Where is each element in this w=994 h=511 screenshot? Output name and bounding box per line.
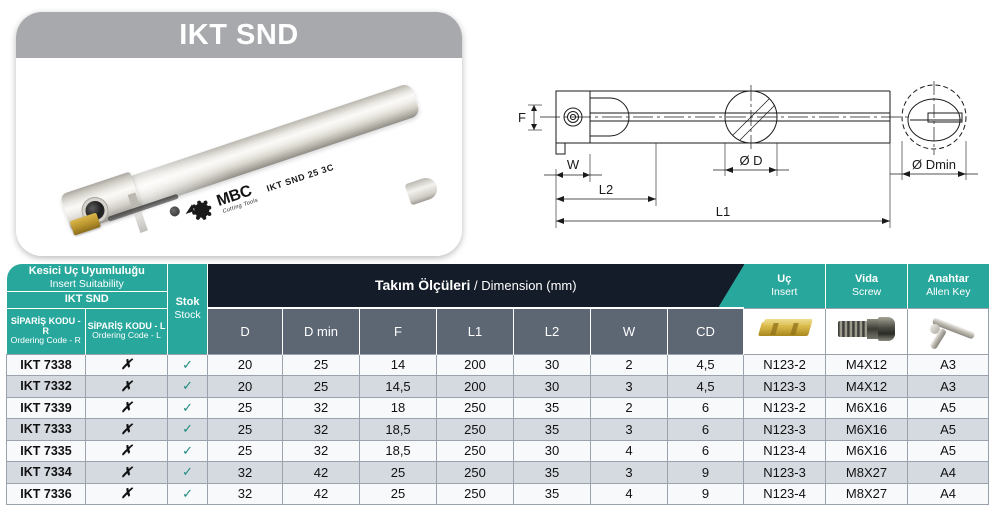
table-row[interactable]: IKT 7334✗✓3242252503539N123-3M8X27A4 xyxy=(7,462,989,484)
cell-ordering-code-r: IKT 7332 xyxy=(7,376,86,398)
cell-insert: N123-3 xyxy=(744,462,826,484)
cell-insert: N123-4 xyxy=(744,440,826,462)
cell-d: 25 xyxy=(208,397,283,419)
header-col-dmin: D min xyxy=(283,308,360,354)
dim-label-d: Ø D xyxy=(739,153,762,168)
allen-key-icon-cell xyxy=(908,308,989,354)
header-col-f: F xyxy=(360,308,437,354)
cell-d: 20 xyxy=(208,354,283,376)
cell-d: 32 xyxy=(208,462,283,484)
cell-w: 2 xyxy=(591,397,668,419)
header-col-d: D xyxy=(208,308,283,354)
cell-dmin: 32 xyxy=(283,397,360,419)
page-title: IKT SND xyxy=(179,19,299,52)
cell-allen-key: A5 xyxy=(908,419,989,441)
technical-drawing: F W L2 Ø D L1 Ø Dmin xyxy=(470,10,994,258)
cell-allen-key: A4 xyxy=(908,462,989,484)
cell-insert: N123-2 xyxy=(744,397,826,419)
cell-d: 25 xyxy=(208,419,283,441)
brand-tagline: Cutting Tools xyxy=(222,198,259,215)
cell-ordering-code-l: ✗ xyxy=(86,376,168,398)
dim-label-dmin: Ø Dmin xyxy=(912,157,956,172)
cell-l2: 30 xyxy=(514,354,591,376)
cell-f: 18 xyxy=(360,397,437,419)
cell-screw: M8X27 xyxy=(826,483,908,505)
cell-ordering-code-r: IKT 7339 xyxy=(7,397,86,419)
cell-f: 18,5 xyxy=(360,440,437,462)
table-row[interactable]: IKT 7333✗✓253218,52503536N123-3M6X16A5 xyxy=(7,419,989,441)
specification-table: Kesici Uç Uyumluluğu Insert Suitability … xyxy=(6,264,989,505)
product-title-bar: IKT SND xyxy=(16,12,462,58)
cell-l2: 35 xyxy=(514,462,591,484)
table-row[interactable]: IKT 7335✗✓253218,52503046N123-4M6X16A5 xyxy=(7,440,989,462)
header-dimension: Takım Ölçüleri / Dimension (mm) xyxy=(208,264,744,308)
cell-l2: 35 xyxy=(514,483,591,505)
cell-f: 25 xyxy=(360,462,437,484)
cell-stock: ✓ xyxy=(168,440,208,462)
cell-ordering-code-l: ✗ xyxy=(86,397,168,419)
tool-coolant-hole xyxy=(168,205,181,218)
cell-screw: M4X12 xyxy=(826,376,908,398)
cell-cd: 9 xyxy=(668,483,744,505)
cell-f: 25 xyxy=(360,483,437,505)
header-stock: Stok Stock xyxy=(168,264,208,354)
cell-stock: ✓ xyxy=(168,419,208,441)
cell-insert: N123-2 xyxy=(744,354,826,376)
cell-stock: ✓ xyxy=(168,397,208,419)
header-screw: Vida Screw xyxy=(826,264,908,308)
cell-dmin: 32 xyxy=(283,440,360,462)
cell-l1: 250 xyxy=(437,483,514,505)
cell-allen-key: A3 xyxy=(908,376,989,398)
cell-w: 3 xyxy=(591,462,668,484)
cell-screw: M6X16 xyxy=(826,419,908,441)
cell-l1: 250 xyxy=(437,419,514,441)
header-col-w: W xyxy=(591,308,668,354)
cell-insert: N123-4 xyxy=(744,483,826,505)
cell-ordering-code-r: IKT 7333 xyxy=(7,419,86,441)
boring-bar-illustration: MBC Cutting Tools IKT SND 25 3C xyxy=(16,58,462,256)
cell-l2: 30 xyxy=(514,376,591,398)
cell-allen-key: A5 xyxy=(908,397,989,419)
cell-l2: 35 xyxy=(514,419,591,441)
catalog-page: IKT SND MBC xyxy=(0,0,994,511)
header-ordering-code-l: SİPARİŞ KODU - L Ordering Code - L xyxy=(86,308,168,354)
cell-screw: M6X16 xyxy=(826,440,908,462)
cell-stock: ✓ xyxy=(168,376,208,398)
table-row[interactable]: IKT 7339✗✓2532182503526N123-2M6X16A5 xyxy=(7,397,989,419)
cell-screw: M4X12 xyxy=(826,354,908,376)
specification-table-wrapper: Kesici Uç Uyumluluğu Insert Suitability … xyxy=(6,264,988,506)
header-col-l1: L1 xyxy=(437,308,514,354)
cell-w: 2 xyxy=(591,354,668,376)
cell-l1: 250 xyxy=(437,397,514,419)
cell-ordering-code-r: IKT 7334 xyxy=(7,462,86,484)
cell-f: 18,5 xyxy=(360,419,437,441)
cell-l1: 250 xyxy=(437,440,514,462)
cell-dmin: 25 xyxy=(283,354,360,376)
cell-f: 14 xyxy=(360,354,437,376)
table-row[interactable]: IKT 7338✗✓2025142003024,5N123-2M4X12A3 xyxy=(7,354,989,376)
brand-name: MBC xyxy=(215,182,257,210)
cell-l1: 200 xyxy=(437,354,514,376)
technical-drawing-svg: F W L2 Ø D L1 Ø Dmin xyxy=(470,10,994,258)
insert-icon-cell xyxy=(744,308,826,354)
cell-dmin: 32 xyxy=(283,419,360,441)
cell-l2: 30 xyxy=(514,440,591,462)
cell-ordering-code-l: ✗ xyxy=(86,462,168,484)
dark-band-slash xyxy=(719,264,745,307)
mbc-logo-icon xyxy=(189,198,214,223)
header-allen-key: Anahtar Allen Key xyxy=(908,264,989,308)
dim-label-f: F xyxy=(518,110,526,125)
cell-dmin: 25 xyxy=(283,376,360,398)
header-col-l2: L2 xyxy=(514,308,591,354)
cell-allen-key: A5 xyxy=(908,440,989,462)
cell-screw: M6X16 xyxy=(826,397,908,419)
cell-ordering-code-l: ✗ xyxy=(86,440,168,462)
screw-icon xyxy=(836,316,898,342)
cell-allen-key: A3 xyxy=(908,354,989,376)
header-col-cd: CD xyxy=(668,308,744,354)
screw-icon-cell xyxy=(826,308,908,354)
cell-w: 3 xyxy=(591,376,668,398)
cell-screw: M8X27 xyxy=(826,462,908,484)
cell-w: 3 xyxy=(591,419,668,441)
header-ordering-code-r: SİPARİŞ KODU - R Ordering Code - R xyxy=(7,308,86,354)
cell-cd: 4,5 xyxy=(668,354,744,376)
cell-cd: 9 xyxy=(668,462,744,484)
cell-d: 25 xyxy=(208,440,283,462)
insert-icon xyxy=(756,318,814,340)
header-family: IKT SND xyxy=(7,291,168,308)
cell-cd: 6 xyxy=(668,419,744,441)
allen-key-icon xyxy=(917,314,979,344)
dim-label-l2: L2 xyxy=(599,182,613,197)
cell-d: 20 xyxy=(208,376,283,398)
cell-insert: N123-3 xyxy=(744,376,826,398)
table-header-row-3: SİPARİŞ KODU - R Ordering Code - R SİPAR… xyxy=(7,308,989,354)
cell-f: 14,5 xyxy=(360,376,437,398)
cell-l2: 35 xyxy=(514,397,591,419)
cell-ordering-code-r: IKT 7335 xyxy=(7,440,86,462)
cell-stock: ✓ xyxy=(168,354,208,376)
cell-cd: 6 xyxy=(668,440,744,462)
engraved-product-code: IKT SND 25 3C xyxy=(265,162,335,194)
cell-stock: ✓ xyxy=(168,483,208,505)
cell-w: 4 xyxy=(591,483,668,505)
cell-allen-key: A4 xyxy=(908,483,989,505)
table-body: IKT 7338✗✓2025142003024,5N123-2M4X12A3IK… xyxy=(7,354,989,505)
cell-dmin: 42 xyxy=(283,483,360,505)
cell-ordering-code-r: IKT 7336 xyxy=(7,483,86,505)
cell-cd: 6 xyxy=(668,397,744,419)
product-photo: MBC Cutting Tools IKT SND 25 3C xyxy=(16,58,462,256)
table-row[interactable]: IKT 7336✗✓3242252503549N123-4M8X27A4 xyxy=(7,483,989,505)
cell-l1: 250 xyxy=(437,462,514,484)
header-insert: Uç Insert xyxy=(744,264,826,308)
cell-dmin: 42 xyxy=(283,462,360,484)
cell-w: 4 xyxy=(591,440,668,462)
cell-insert: N123-3 xyxy=(744,419,826,441)
cell-stock: ✓ xyxy=(168,462,208,484)
cell-cd: 4,5 xyxy=(668,376,744,398)
table-header-row-1: Kesici Uç Uyumluluğu Insert Suitability … xyxy=(7,264,989,291)
cell-ordering-code-r: IKT 7338 xyxy=(7,354,86,376)
header-insert-suitability: Kesici Uç Uyumluluğu Insert Suitability xyxy=(7,264,168,291)
cell-d: 32 xyxy=(208,483,283,505)
tool-tail xyxy=(405,175,440,205)
cell-ordering-code-l: ✗ xyxy=(86,419,168,441)
cell-ordering-code-l: ✗ xyxy=(86,483,168,505)
dim-label-l1: L1 xyxy=(716,204,730,219)
table-row[interactable]: IKT 7332✗✓202514,52003034,5N123-3M4X12A3 xyxy=(7,376,989,398)
cell-ordering-code-l: ✗ xyxy=(86,354,168,376)
cell-l1: 200 xyxy=(437,376,514,398)
product-panel: IKT SND MBC xyxy=(16,12,462,256)
dim-label-w: W xyxy=(567,157,580,172)
